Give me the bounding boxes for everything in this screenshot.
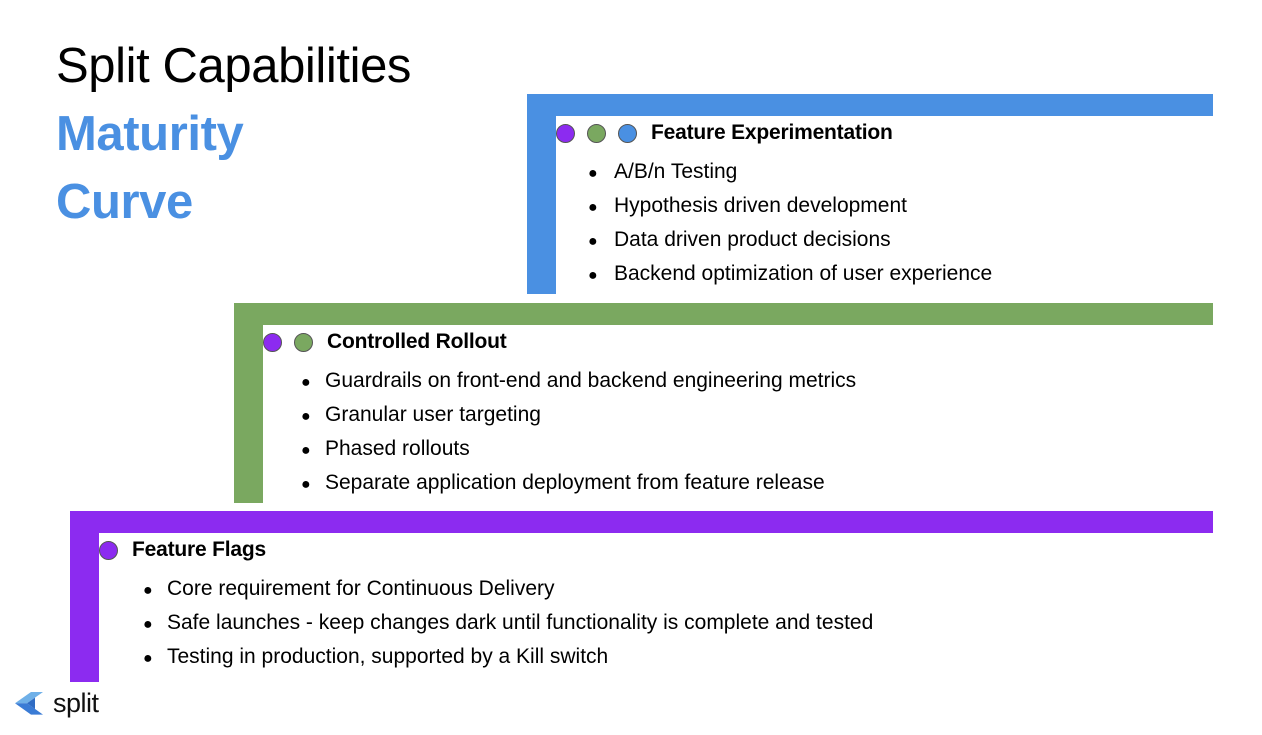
list-item-label: Phased rollouts	[325, 433, 470, 465]
list-item: ● Core requirement for Continuous Delive…	[99, 573, 1213, 607]
maturity-dot-group	[263, 333, 313, 352]
bullet-dot-icon: ●	[556, 158, 614, 190]
tier-bracket-top-arm	[234, 303, 1213, 325]
bullet-dot-icon: ●	[99, 575, 167, 607]
list-item-label: Safe launches - keep changes dark until …	[167, 607, 873, 639]
list-item: ● Granular user targeting	[263, 399, 1213, 433]
tier-bracket-left-arm	[527, 94, 556, 294]
tier-title: Feature Flags	[132, 538, 266, 562]
split-logo-mark-icon	[14, 689, 44, 719]
tier-header: Controlled Rollout	[263, 330, 1213, 354]
maturity-dot-purple-icon	[263, 333, 282, 352]
page-title-line-2: Maturity	[56, 100, 516, 168]
tier-bullet-list: ● Guardrails on front-end and backend en…	[263, 365, 1213, 501]
list-item-label: Guardrails on front-end and backend engi…	[325, 365, 856, 397]
list-item: ● Hypothesis driven development	[556, 190, 1213, 224]
tier-bracket-top-arm	[70, 511, 1213, 533]
maturity-dot-purple-icon	[99, 541, 118, 560]
bullet-dot-icon: ●	[556, 192, 614, 224]
tier-body: Feature Flags ● Core requirement for Con…	[99, 533, 1213, 675]
list-item: ● Safe launches - keep changes dark unti…	[99, 607, 1213, 641]
maturity-dot-green-icon	[294, 333, 313, 352]
bullet-dot-icon: ●	[263, 469, 325, 501]
list-item-label: Backend optimization of user experience	[614, 258, 992, 290]
tier-bullet-list: ● A/B/n Testing ● Hypothesis driven deve…	[556, 156, 1213, 292]
tier-bracket-left-arm	[234, 303, 263, 503]
bullet-dot-icon: ●	[263, 401, 325, 433]
maturity-dot-group	[99, 541, 118, 560]
tier-title: Controlled Rollout	[327, 330, 507, 354]
bullet-dot-icon: ●	[556, 226, 614, 258]
tier-bullet-list: ● Core requirement for Continuous Delive…	[99, 573, 1213, 675]
tier-body: Feature Experimentation ● A/B/n Testing …	[556, 116, 1213, 292]
bullet-dot-icon: ●	[263, 367, 325, 399]
tier-body: Controlled Rollout ● Guardrails on front…	[263, 325, 1213, 501]
list-item: ● Phased rollouts	[263, 433, 1213, 467]
bullet-dot-icon: ●	[263, 435, 325, 467]
maturity-dot-purple-icon	[556, 124, 575, 143]
list-item-label: A/B/n Testing	[614, 156, 737, 188]
list-item-label: Data driven product decisions	[614, 224, 891, 256]
list-item: ● Testing in production, supported by a …	[99, 641, 1213, 675]
split-logo: split	[14, 688, 99, 719]
bullet-dot-icon: ●	[99, 643, 167, 675]
maturity-dot-group	[556, 124, 637, 143]
list-item-label: Hypothesis driven development	[614, 190, 907, 222]
list-item: ● Backend optimization of user experienc…	[556, 258, 1213, 292]
split-logo-wordmark: split	[53, 688, 99, 719]
tier-bracket-top-arm	[527, 94, 1213, 116]
page-title-line-3: Curve	[56, 168, 516, 236]
list-item: ● Guardrails on front-end and backend en…	[263, 365, 1213, 399]
list-item: ● A/B/n Testing	[556, 156, 1213, 190]
tier-title: Feature Experimentation	[651, 121, 893, 145]
list-item: ● Data driven product decisions	[556, 224, 1213, 258]
maturity-dot-blue-icon	[618, 124, 637, 143]
list-item-label: Core requirement for Continuous Delivery	[167, 573, 555, 605]
list-item: ● Separate application deployment from f…	[263, 467, 1213, 501]
list-item-label: Separate application deployment from fea…	[325, 467, 825, 499]
page-title-line-1: Split Capabilities	[56, 32, 516, 100]
bullet-dot-icon: ●	[99, 609, 167, 641]
maturity-dot-green-icon	[587, 124, 606, 143]
list-item-label: Granular user targeting	[325, 399, 541, 431]
bullet-dot-icon: ●	[556, 260, 614, 292]
slide-title-block: Split Capabilities Maturity Curve	[56, 32, 516, 236]
tier-header: Feature Experimentation	[556, 121, 1213, 145]
tier-bracket-left-arm	[70, 511, 99, 682]
tier-header: Feature Flags	[99, 538, 1213, 562]
list-item-label: Testing in production, supported by a Ki…	[167, 641, 608, 673]
